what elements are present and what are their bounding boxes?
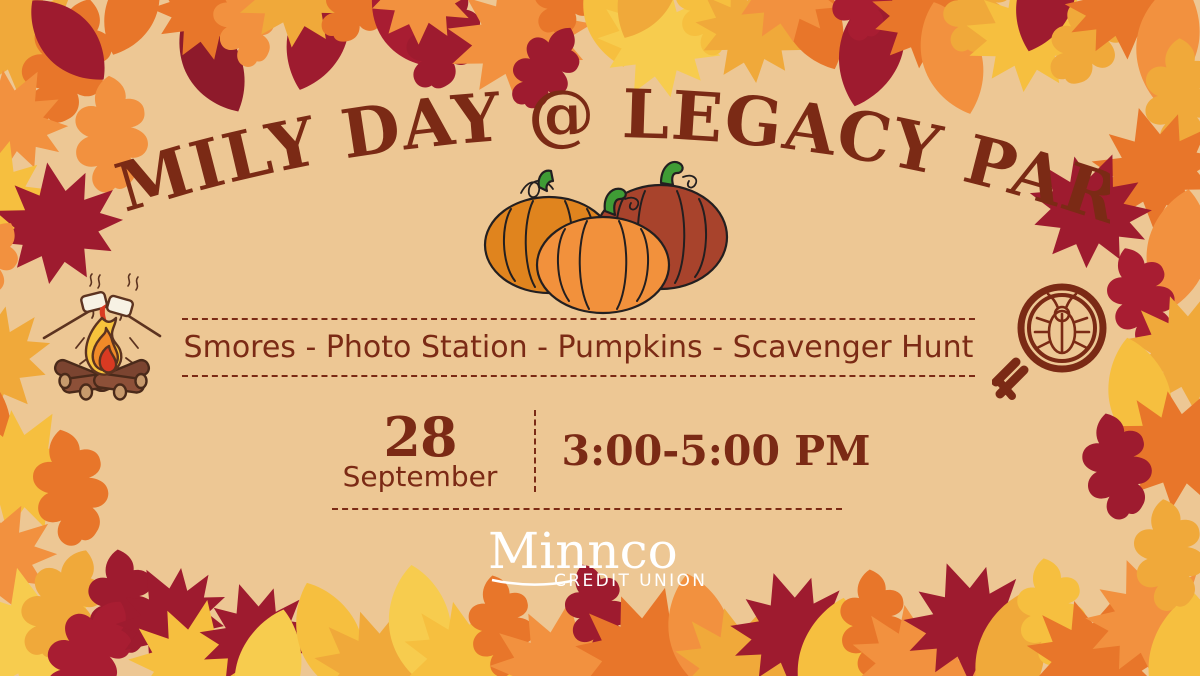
three-pumpkins-icon: [465, 155, 735, 315]
flyer-content: FAMILY DAY @ LEGACY PARK: [0, 0, 1200, 676]
footer-rule: [332, 508, 842, 510]
date-time-divider: [534, 410, 536, 492]
event-date: 28 September: [320, 412, 520, 491]
event-date-day: 28: [320, 412, 520, 463]
event-time: 3:00-5:00 PM: [558, 427, 880, 475]
activities-list: Smores - Photo Station - Pumpkins - Scav…: [182, 320, 975, 375]
flyer-canvas: FAMILY DAY @ LEGACY PARK: [0, 0, 1200, 676]
date-time-row: 28 September 3:00-5:00 PM: [320, 406, 880, 496]
activities-band: Smores - Photo Station - Pumpkins - Scav…: [182, 318, 975, 388]
magnifying-glass-bug-icon: [992, 278, 1116, 402]
activities-rule-bottom: [182, 375, 975, 377]
logo-tagline: CREDIT UNION: [554, 571, 707, 590]
minnco-logo: Minnco CREDIT UNION: [480, 524, 720, 590]
campfire-smores-icon: [32, 272, 172, 408]
event-date-month: September: [320, 464, 520, 491]
